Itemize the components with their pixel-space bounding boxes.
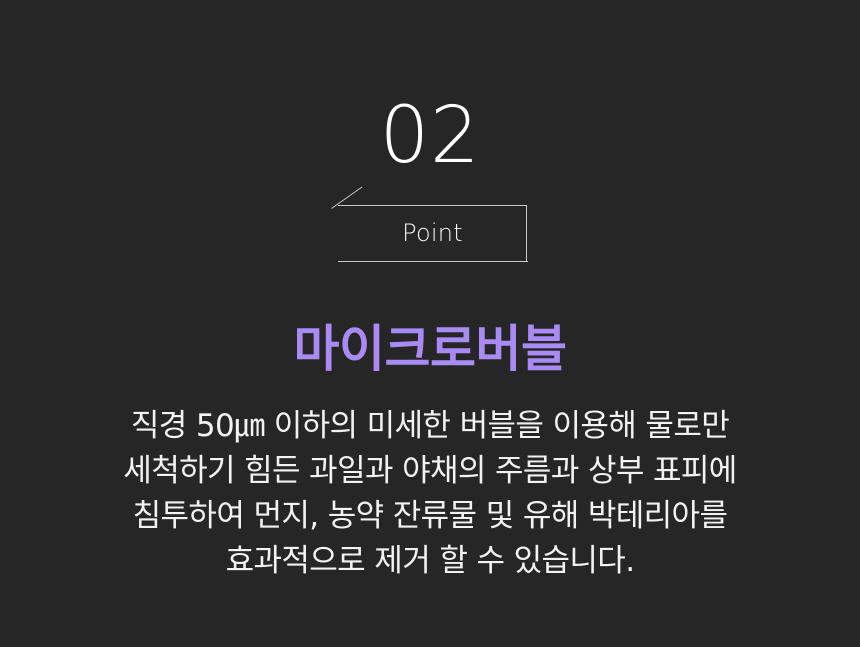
body-line: 효과적으로 제거 할 수 있습니다. — [30, 539, 830, 584]
step-number: 02 — [0, 92, 860, 180]
point-label-text: Point — [338, 205, 527, 262]
point-label-box: Point — [338, 205, 527, 262]
body-line: 직경 50㎛ 이하의 미세한 버블을 이용해 물로만 — [30, 404, 830, 449]
body-copy: 직경 50㎛ 이하의 미세한 버블을 이용해 물로만 세척하기 힘든 과일과 야… — [30, 404, 830, 584]
page-title: 마이크로버블 — [0, 318, 860, 380]
body-line: 침투하여 먼지, 농약 잔류물 및 유해 박테리아를 — [30, 494, 830, 539]
body-line: 세척하기 힘든 과일과 야채의 주름과 상부 표피에 — [30, 449, 830, 494]
slide-root: 02 Point 마이크로버블 직경 50㎛ 이하의 미세한 버블을 이용해 물… — [0, 0, 860, 647]
